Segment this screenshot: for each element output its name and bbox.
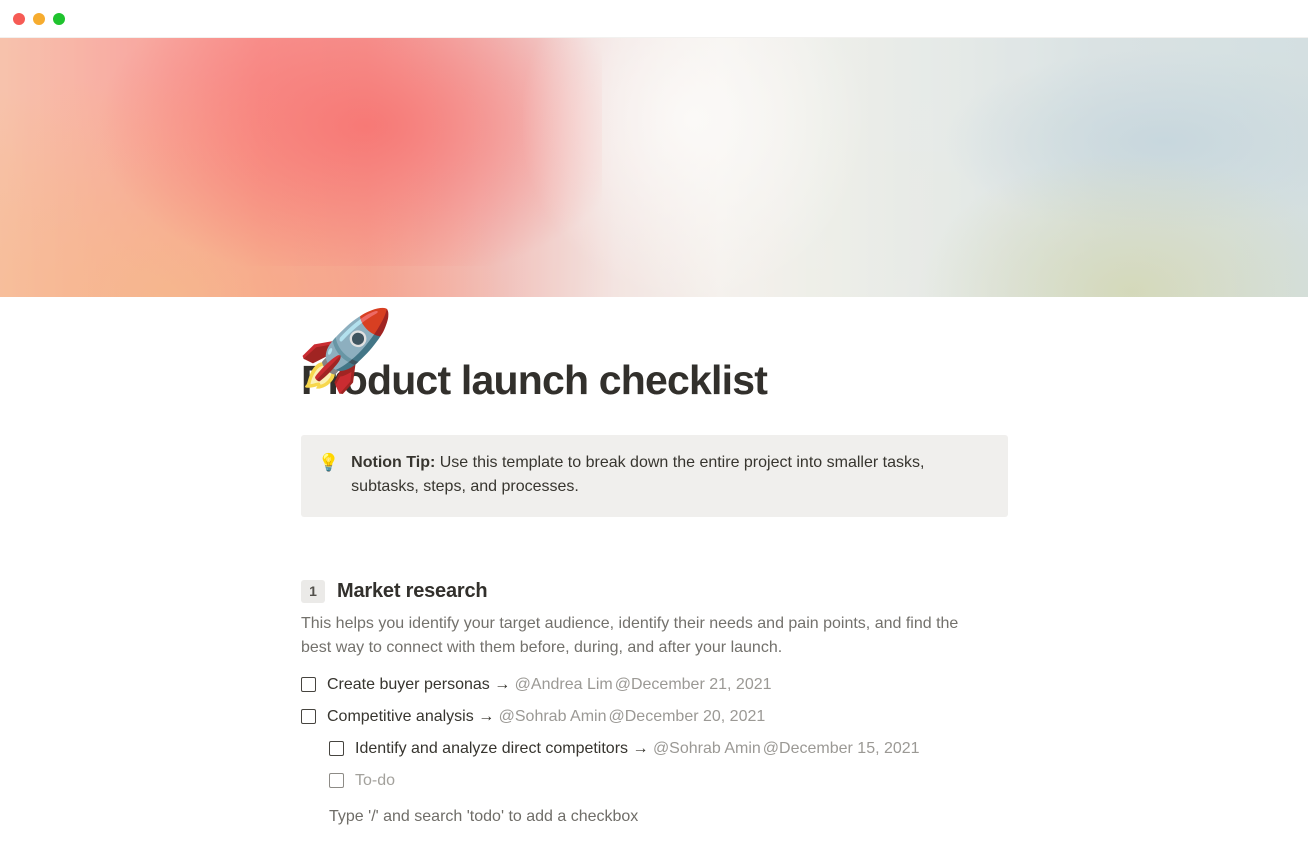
todo-item[interactable]: Create buyer personas → @Andrea Lim@Dece… <box>301 669 1268 701</box>
todo-checkbox[interactable] <box>301 709 316 724</box>
app-window: 🚀 Product launch checklist 💡 Notion Tip:… <box>0 0 1308 852</box>
todo-text[interactable]: Competitive analysis → @Sohrab Amin@Dece… <box>327 705 765 729</box>
minimize-window-button[interactable] <box>33 13 45 25</box>
mention-date[interactable]: @December 20, 2021 <box>609 708 766 725</box>
todo-label: Identify and analyze direct competitors <box>355 740 628 757</box>
todo-item-empty[interactable]: To-do <box>329 765 1268 797</box>
mention-person[interactable]: @Sohrab Amin <box>653 740 761 757</box>
mention-date[interactable]: @December 21, 2021 <box>615 676 772 693</box>
callout-body: Use this template to break down the enti… <box>351 454 924 495</box>
arrow-icon: → <box>494 676 510 693</box>
todo-list: Create buyer personas → @Andrea Lim@Dece… <box>301 669 1268 797</box>
todo-text[interactable]: Create buyer personas → @Andrea Lim@Dece… <box>327 673 772 697</box>
step-number-badge: 1 <box>301 580 325 603</box>
todo-checkbox[interactable] <box>329 741 344 756</box>
todo-item[interactable]: Competitive analysis → @Sohrab Amin@Dece… <box>301 701 1268 733</box>
todo-checkbox[interactable] <box>301 677 316 692</box>
traffic-light-group <box>13 13 65 25</box>
section-description[interactable]: This helps you identify your target audi… <box>301 612 991 661</box>
callout-text: Notion Tip: Use this template to break d… <box>351 451 951 500</box>
mention-person[interactable]: @Sohrab Amin <box>499 708 607 725</box>
todo-label: Create buyer personas <box>327 676 490 693</box>
arrow-icon: → <box>632 740 648 757</box>
todo-checkbox[interactable] <box>329 773 344 788</box>
slash-command-hint: Type '/' and search 'todo' to add a chec… <box>329 805 1268 829</box>
close-window-button[interactable] <box>13 13 25 25</box>
page-cover-banner[interactable] <box>0 38 1308 297</box>
todo-placeholder-text[interactable]: To-do <box>355 769 395 793</box>
rocket-emoji[interactable]: 🚀 <box>297 311 394 389</box>
arrow-icon: → <box>478 708 494 725</box>
cover-bloom-sage <box>916 152 1308 297</box>
section-market-research: 1 Market research This helps you identif… <box>301 580 1268 830</box>
maximize-window-button[interactable] <box>53 13 65 25</box>
cover-bloom-white <box>523 38 863 297</box>
window-titlebar <box>0 0 1308 38</box>
lightbulb-icon[interactable]: 💡 <box>318 451 339 475</box>
todo-label: Competitive analysis <box>327 708 474 725</box>
mention-date[interactable]: @December 15, 2021 <box>763 740 920 757</box>
notion-tip-callout[interactable]: 💡 Notion Tip: Use this template to break… <box>301 435 1008 517</box>
page-title[interactable]: Product launch checklist <box>301 357 1268 404</box>
callout-label: Notion Tip: <box>351 454 435 471</box>
mention-person[interactable]: @Andrea Lim <box>515 676 613 693</box>
todo-text[interactable]: Identify and analyze direct competitors … <box>355 737 920 761</box>
section-heading: 1 Market research <box>301 580 1268 603</box>
todo-item-nested[interactable]: Identify and analyze direct competitors … <box>329 733 1268 765</box>
page-content: 🚀 Product launch checklist 💡 Notion Tip:… <box>0 357 1308 829</box>
section-title[interactable]: Market research <box>337 580 487 603</box>
